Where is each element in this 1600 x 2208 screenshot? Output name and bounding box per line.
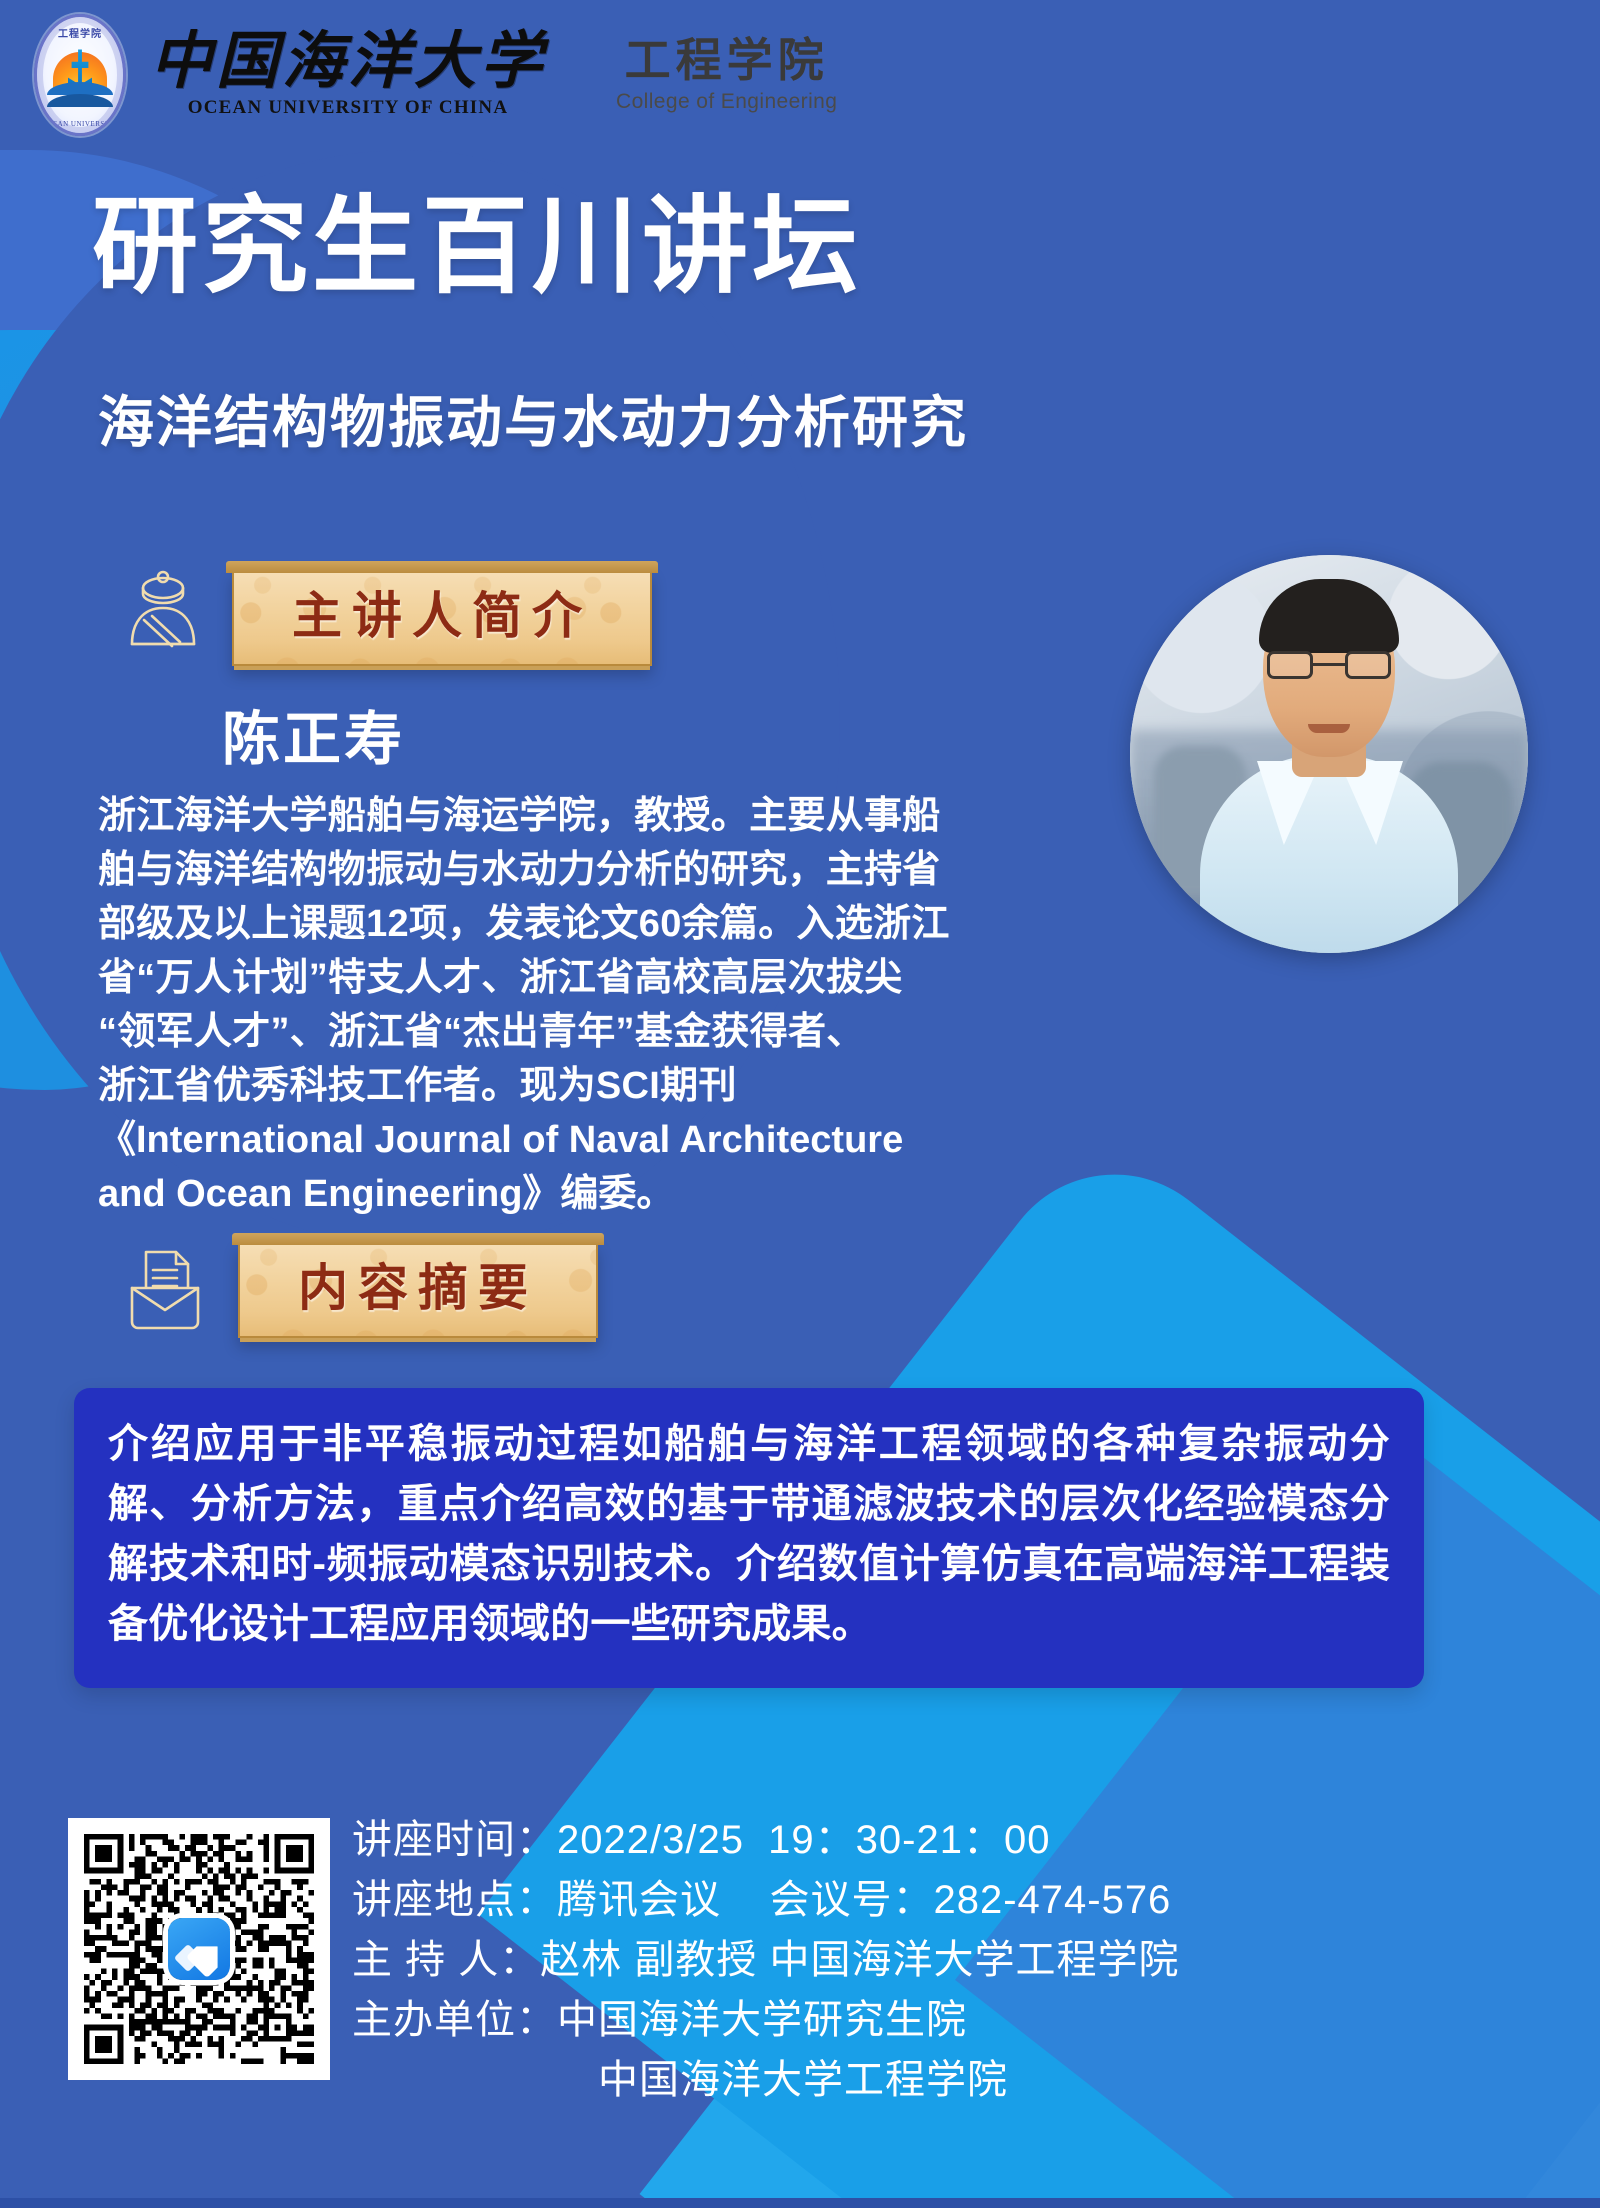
abstract-section-label: 内容摘要 [298,1260,538,1316]
speaker-bio: 浙江海洋大学船舶与海运学院，教授。主要从事船 舶与海洋结构物振动与水动力分析的研… [98,790,1058,1222]
poster-header: 工程学院 OCEAN UNIVERSITY 中国海洋大学 OCEAN UNIVE… [0,0,1600,150]
event-host: 主 持 人：赵林 副教授 中国海洋大学工程学院 [352,1930,1179,1990]
speaker-portrait [1130,555,1528,953]
event-place: 讲座地点：腾讯会议 会议号：282-474-576 [352,1870,1179,1930]
seal-top-chars: 工程学院 [37,25,123,40]
speaker-section-header: 主讲人简介 [120,568,652,668]
event-organizer: 主办单位：中国海洋大学研究生院 [352,1990,1179,2050]
speaker-bio-line: 浙江海洋大学船舶与海运学院，教授。主要从事船 [98,790,1058,844]
page-title: 研究生百川讲坛 [92,192,862,303]
university-seal-icon: 工程学院 OCEAN UNIVERSITY [34,14,126,136]
decorative-bottom-strip [0,2198,1600,2208]
poster-canvas: 工程学院 OCEAN UNIVERSITY 中国海洋大学 OCEAN UNIVE… [0,0,1600,2208]
event-details: 讲座时间：2022/3/25 19：30-21：00 讲座地点：腾讯会议 会议号… [352,1810,1179,2110]
college-name-en: College of Engineering [616,90,837,114]
university-name-en: OCEAN UNIVERSITY OF CHINA [188,97,508,119]
speaker-bio-line: 部级及以上课题12项，发表论文60余篇。入选浙江 [98,898,1058,952]
college-name-cn: 工程学院 [625,37,829,83]
speaker-bio-line: 舶与海洋结构物振动与水动力分析的研究，主持省 [98,844,1058,898]
speaker-section-plaque: 主讲人简介 [232,570,652,666]
abstract-section-header: 内容摘要 [122,1240,598,1340]
speaker-with-cap-icon [120,568,206,668]
abstract-box: 介绍应用于非平稳振动过程如船舶与海洋工程领域的各种复杂振动分解、分析方法，重点介… [74,1388,1424,1688]
tencent-meeting-logo-icon [168,1918,230,1980]
page-subtitle: 海洋结构物振动与水动力分析研究 [98,392,968,454]
speaker-bio-line: 浙江省优秀科技工作者。现为SCI期刊 [98,1060,1058,1114]
event-time: 讲座时间：2022/3/25 19：30-21：00 [352,1810,1179,1870]
college-wordmark: 工程学院 College of Engineering [616,37,837,114]
university-wordmark: 中国海洋大学 OCEAN UNIVERSITY OF CHINA [150,31,546,119]
speaker-bio-line: “领军人才”、浙江省“杰出青年”基金获得者、 [98,1006,1058,1060]
abstract-text: 介绍应用于非平稳振动过程如船舶与海洋工程领域的各种复杂振动分解、分析方法，重点介… [108,1414,1390,1654]
abstract-section-plaque: 内容摘要 [238,1242,598,1338]
seal-bottom-chars: OCEAN UNIVERSITY [37,120,123,128]
document-envelope-icon [122,1240,208,1340]
speaker-name: 陈正寿 [222,692,405,776]
university-name-cn: 中国海洋大学 [150,31,546,93]
qr-code-tencent-meeting[interactable] [68,1818,330,2080]
speaker-bio-line: 《International Journal of Naval Architec… [98,1114,1058,1168]
event-organizer-2: 中国海洋大学工程学院 [352,2050,1179,2110]
speaker-bio-line: and Ocean Engineering》编委。 [98,1168,1058,1222]
speaker-section-label: 主讲人简介 [292,588,592,644]
speaker-bio-line: 省“万人计划”特支人才、浙江省高校高层次拔尖 [98,952,1058,1006]
